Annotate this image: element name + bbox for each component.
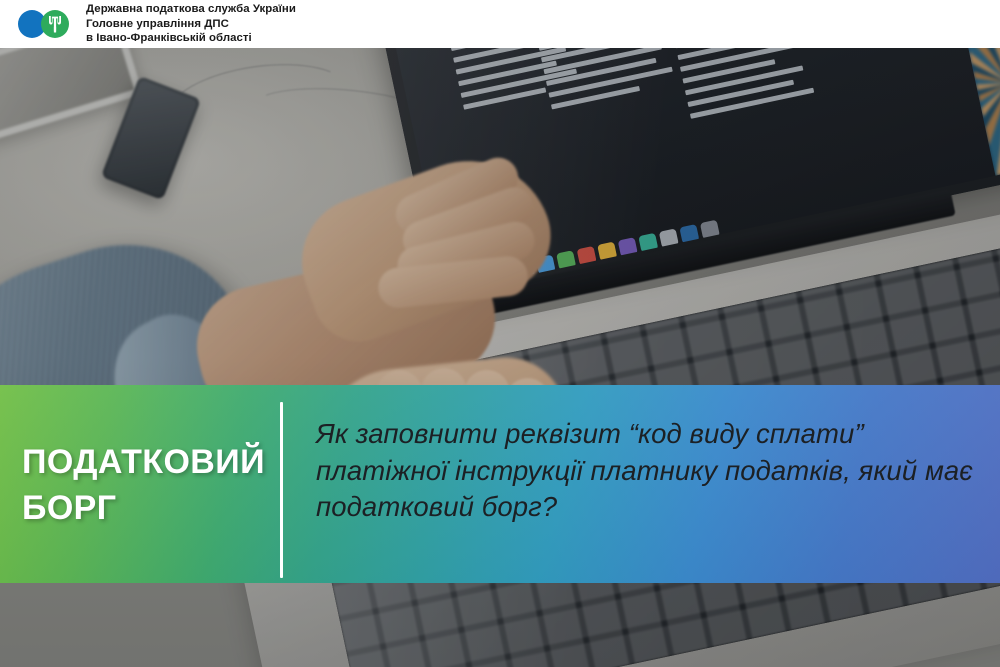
header-line-1: Державна податкова служба України <box>86 2 296 17</box>
tryzub-icon <box>41 10 69 38</box>
header-line-3: в Івано-Франківській області <box>86 31 296 46</box>
header-line-2: Головне управління ДПС <box>86 17 296 32</box>
screenshot-canvas: Державна податкова служба України Головн… <box>0 0 1000 667</box>
header-org-name: Державна податкова служба України Головн… <box>86 2 296 46</box>
banner-category-title: ПОДАТКОВИЙ БОРГ <box>22 440 272 531</box>
dps-logo[interactable] <box>18 9 80 39</box>
banner-divider <box>280 402 283 578</box>
banner-question-text: Як заповнити реквізит “код виду сплати” … <box>316 416 984 526</box>
site-header: Державна податкова служба України Головн… <box>0 0 1000 48</box>
